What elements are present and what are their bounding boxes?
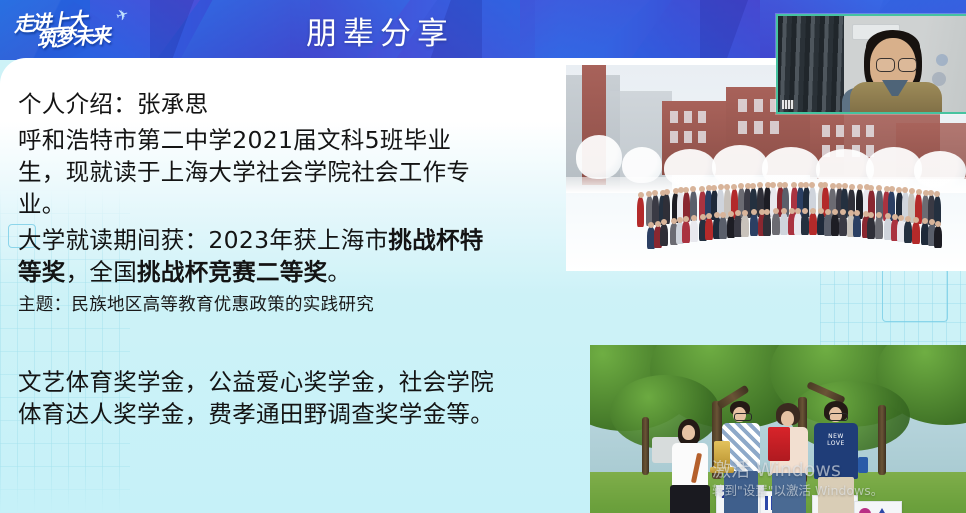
background-line: 呼和浩特市第二中学2021届文科5班毕业生，现就读于上海大学社会学院社会工作专业…	[18, 124, 498, 220]
crowd-person	[780, 213, 788, 235]
crowd-person-head	[922, 218, 928, 224]
crowd-person	[904, 221, 912, 243]
crowd-person-head	[795, 208, 801, 214]
scholarship-line: 文艺体育奖学金，公益爱心奖学金，社会学院体育达人奖学金，费孝通田野调查奖学金等。	[18, 366, 498, 430]
crowd-person-head	[671, 218, 677, 224]
topic-line: 主题：民族地区高等教育优惠政策的实践研究	[18, 292, 498, 318]
crowd-person	[801, 213, 809, 235]
crowd-person-head	[832, 209, 838, 215]
crowd-person-head	[849, 184, 855, 190]
crowd-person	[912, 222, 920, 244]
crowd-person-head	[742, 210, 748, 216]
crowd-person-head	[789, 208, 795, 214]
crowd-person	[934, 226, 942, 248]
crowd-person-head	[830, 183, 836, 189]
student-figure	[664, 419, 714, 513]
crowd-person	[809, 213, 817, 235]
awards-suffix: 。	[327, 258, 351, 286]
crowd-person-head	[916, 189, 922, 195]
slide-body: 个人介绍：张承思 呼和浩特市第二中学2021届文科5班毕业生，现就读于上海大学社…	[0, 58, 966, 513]
awards-bold-2: 挑战杯竞赛二等奖	[137, 258, 327, 286]
crowd-person-head	[889, 186, 895, 192]
crowd-person-head	[905, 216, 911, 222]
crowd-person	[839, 214, 847, 236]
background-art-box	[882, 268, 948, 322]
crowd-person-head	[909, 188, 915, 194]
student-figure: NEW LOVE	[808, 401, 864, 513]
crowd-person	[831, 214, 839, 236]
wall-decal	[936, 54, 948, 66]
crowd-person-head	[720, 212, 726, 218]
red-certificate	[768, 427, 790, 461]
awards-line: 大学就读期间获：2023年获上海市挑战杯特等奖，全国挑战杯竞赛二等奖。	[18, 224, 498, 288]
crowd-person	[853, 215, 861, 237]
award-photo: 2023 无 挑 战 不	[590, 345, 966, 513]
crowd-person	[637, 197, 644, 227]
profile-text: 个人介绍：张承思 呼和浩特市第二中学2021届文科5班毕业生，现就读于上海大学社…	[18, 88, 498, 434]
trophy-icon	[714, 441, 730, 469]
crowd-person-head	[638, 192, 644, 198]
webcam-status-icon	[782, 100, 794, 109]
intro-line: 个人介绍：张承思	[18, 88, 498, 120]
crowd-person-head	[764, 209, 770, 215]
crowd-person-head	[711, 185, 717, 191]
crowd-person-head	[718, 184, 724, 190]
crowd-person-head	[791, 182, 797, 188]
presentation-slide: 走进上大 筑梦未来 ✈ 朋辈分享 个人介绍：张承思 呼和浩特市第二中学2021届…	[0, 0, 966, 513]
crowd-person-head	[691, 215, 697, 221]
webcam-curtain	[778, 16, 844, 112]
crowd-person-head	[898, 215, 904, 221]
crowd-person-head	[664, 189, 670, 195]
crowd-person-head	[731, 184, 737, 190]
crowd-person-head	[683, 216, 689, 222]
crowd-person	[719, 217, 727, 239]
awards-mid: ，全国	[66, 258, 137, 286]
crowd-person	[750, 214, 758, 236]
glasses-right-lens	[898, 58, 917, 72]
crowd-person-head	[868, 212, 874, 218]
crowd-person-head	[876, 212, 882, 218]
crowd-person-head	[868, 185, 874, 191]
crowd-person	[682, 221, 690, 243]
crowd-person	[867, 217, 875, 239]
presenter-webcam-thumbnail[interactable]	[776, 14, 966, 114]
crowd-person-head	[825, 209, 831, 215]
crowd-person	[763, 214, 771, 236]
glasses-left-lens	[876, 58, 895, 72]
crowd-person-head	[655, 221, 661, 227]
crowd-person-head	[857, 184, 863, 190]
crowd-person-head	[854, 210, 860, 216]
awards-prefix: 大学就读期间获：2023年获上海市	[18, 226, 388, 254]
crowd-person-head	[892, 214, 898, 220]
crowd-person-head	[935, 221, 941, 227]
crowd-person-head	[677, 217, 683, 223]
page-title: 朋辈分享	[0, 2, 760, 58]
crowd-person	[772, 213, 780, 235]
crowd-person-head	[700, 214, 706, 220]
crowd-person-head	[714, 212, 720, 218]
crowd-person	[690, 220, 698, 242]
crowd-person-head	[728, 211, 734, 217]
crowd-person-head	[781, 208, 787, 214]
crowd-person-head	[913, 217, 919, 223]
crowd-person	[741, 215, 749, 237]
crowd-person	[875, 217, 883, 239]
crowd-person	[660, 224, 668, 246]
